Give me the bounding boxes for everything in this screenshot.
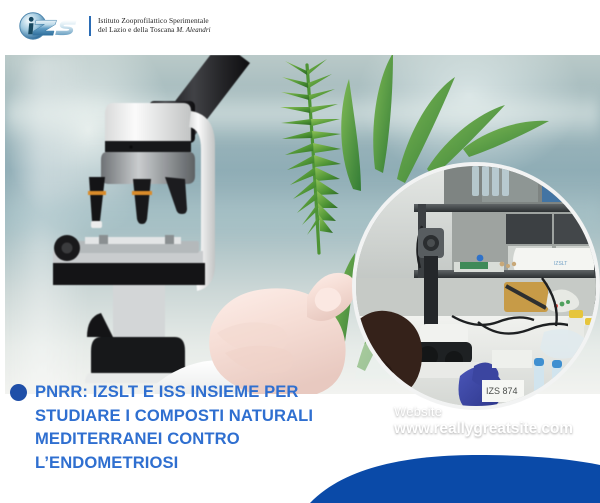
institute-name-line1: Istituto Zooprofilattico Sperimentale (93, 16, 211, 25)
institute-name: Istituto Zooprofilattico Sperimentale de… (89, 16, 211, 36)
izs-logo-icon[interactable] (18, 11, 80, 41)
svg-text:IZSLT: IZSLT (554, 261, 567, 267)
headline-block: PNRR: IZSLT E ISS INSIEME PER STUDIARE I… (10, 380, 340, 474)
website-label: Website (394, 404, 573, 419)
page-title: PNRR: IZSLT E ISS INSIEME PER STUDIARE I… (35, 380, 335, 474)
institute-name-italic: M. Aleandri (176, 27, 210, 34)
page-header: Istituto Zooprofilattico Sperimentale de… (0, 0, 600, 52)
institute-name-line2: del Lazio e della Toscana M. Aleandri (93, 25, 211, 36)
lab-inset-artwork: IZSLT (356, 166, 600, 410)
bullet-dot-icon (10, 384, 27, 401)
lab-inset-photo: IZSLT (352, 162, 600, 410)
website-url[interactable]: www.reallygreatsite.com (394, 420, 573, 438)
website-block: Website www.reallygreatsite.com (394, 404, 573, 438)
svg-text:IZS 874: IZS 874 (486, 386, 518, 396)
